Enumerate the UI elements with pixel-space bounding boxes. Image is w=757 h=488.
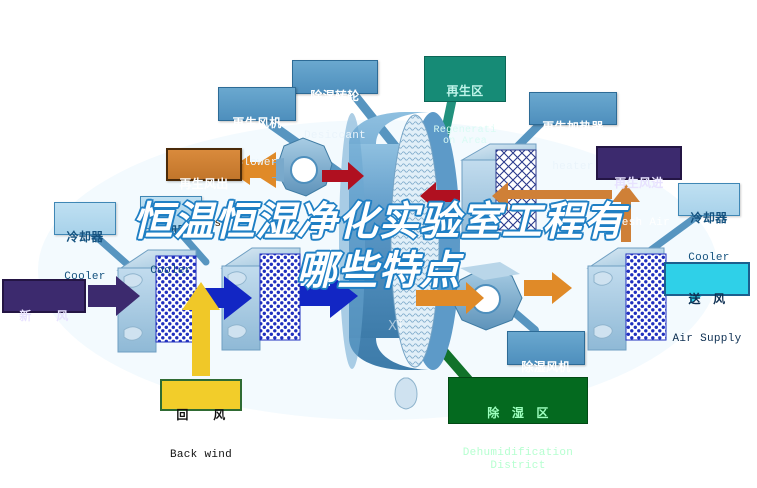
label-regeneration-area[interactable]: 再生区 Regenerati on Area (424, 56, 506, 102)
label-back-wind-en: Back wind (162, 449, 240, 461)
label-dehumidification-district-cn: 除 湿 区 (449, 407, 587, 420)
diagram-canvas: XT (0, 0, 757, 488)
label-desiccant-en: Desiccant (293, 130, 377, 142)
label-desiccant[interactable]: 除湿转轮 Desiccant (292, 60, 378, 94)
label-regeneration-fresh-air-cn: 再生风进 (598, 177, 680, 190)
svg-text:XT: XT (388, 319, 405, 334)
headline-line-1: 恒温恒湿净化实验室工程有 (0, 198, 757, 247)
label-regeneration-heater[interactable]: 再生加热器 heater (529, 92, 617, 125)
label-dehumidification-district-en: Dehumidification District (449, 447, 587, 472)
label-back-wind[interactable]: 回 风 Back wind (160, 379, 242, 411)
label-regeneration-blower-cn: 再生风机 (219, 117, 295, 130)
label-regeneration-fresh-air[interactable]: 再生风进 Fresh Air (596, 146, 682, 180)
label-exhaust[interactable]: 再生风出 Exhaust (166, 148, 242, 181)
label-regeneration-blower[interactable]: 再生风机 Blower (218, 87, 296, 121)
label-regeneration-area-cn: 再生区 (425, 85, 505, 98)
headline-line-2: 哪些特点 (0, 247, 757, 296)
label-exhaust-cn: 再生风出 (168, 178, 240, 191)
label-regeneration-area-en: Regenerati on Area (425, 125, 505, 147)
label-fresh-air-cn: 新 风 (4, 310, 84, 323)
label-dehumidification-blower-cn: 除湿风机 (508, 361, 584, 374)
label-dehumidification-district[interactable]: 除 湿 区 Dehumidification District (448, 377, 588, 424)
label-air-supply-en: Air Supply (666, 333, 748, 345)
label-dehumidification-blower[interactable]: 除湿风机 Blower (507, 331, 585, 365)
label-desiccant-cn: 除湿转轮 (293, 90, 377, 103)
label-regeneration-heater-cn: 再生加热器 (530, 121, 616, 134)
label-back-wind-cn: 回 风 (162, 409, 240, 422)
label-fresh-air-en: Fresh Air (4, 350, 84, 362)
overlay-headline: 恒温恒湿净化实验室工程有 哪些特点 (0, 198, 757, 296)
